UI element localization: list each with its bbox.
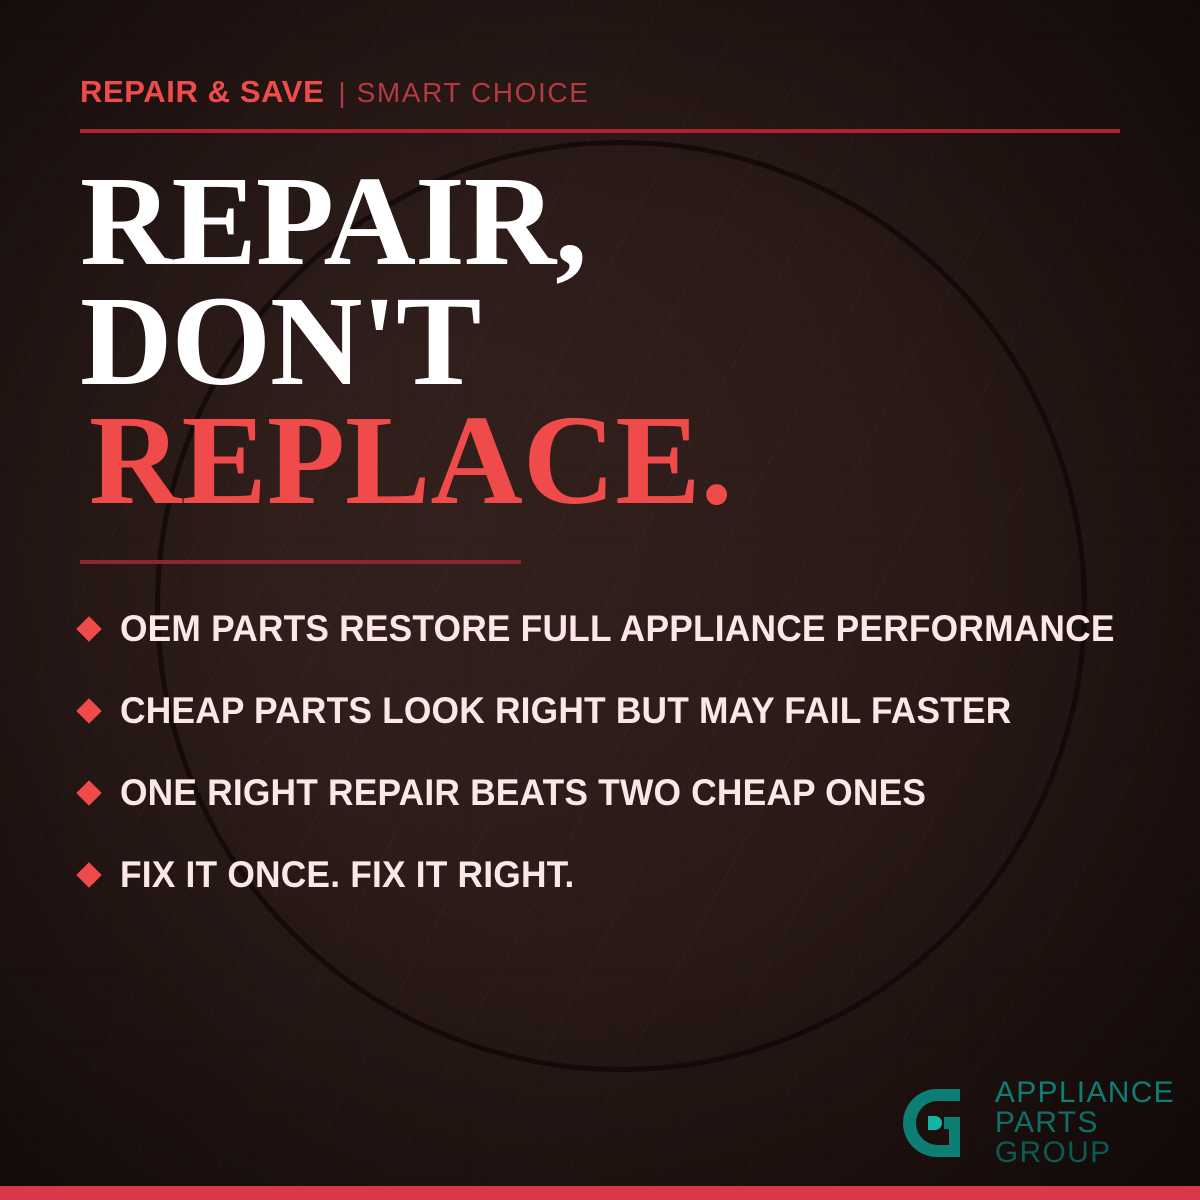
list-item: ONE RIGHT REPAIR BEATS TWO CHEAP ONES — [80, 752, 1160, 834]
headline-line-3: REPLACE. — [80, 401, 1080, 521]
poster-canvas: REPAIR & SAVE | SMART CHOICE REPAIR, DON… — [0, 0, 1200, 1200]
diamond-bullet-icon — [76, 780, 101, 805]
header-rule — [80, 129, 1120, 133]
list-item: CHEAP PARTS LOOK RIGHT BUT MAY FAIL FAST… — [80, 670, 1160, 752]
headline-divider — [80, 560, 521, 564]
logo-line-2: PARTS — [995, 1108, 1175, 1138]
bottom-accent-bar — [0, 1186, 1200, 1200]
diamond-bullet-icon — [76, 616, 101, 641]
diamond-bullet-icon — [76, 698, 101, 723]
logo-line-1: APPLIANCE — [995, 1078, 1175, 1108]
g-monogram-icon — [897, 1083, 981, 1163]
diamond-bullet-icon — [76, 862, 101, 887]
eyebrow-sub-label: | SMART CHOICE — [338, 77, 589, 109]
list-item: FIX IT ONCE. FIX IT RIGHT. — [80, 834, 1160, 916]
logo-wordmark: APPLIANCE PARTS GROUP — [995, 1078, 1175, 1168]
bullet-label: ONE RIGHT REPAIR BEATS TWO CHEAP ONES — [120, 772, 926, 814]
eyebrow: REPAIR & SAVE | SMART CHOICE — [80, 74, 589, 110]
headline: REPAIR, DON'T REPLACE. — [80, 162, 1080, 521]
eyebrow-main-label: REPAIR & SAVE — [80, 74, 324, 110]
bullet-label: OEM PARTS RESTORE FULL APPLIANCE PERFORM… — [120, 608, 1115, 650]
logo-line-3: GROUP — [995, 1138, 1175, 1168]
brand-logo: APPLIANCE PARTS GROUP — [897, 1078, 1175, 1168]
bullet-label: CHEAP PARTS LOOK RIGHT BUT MAY FAIL FAST… — [120, 690, 1011, 732]
headline-line-1: REPAIR, — [80, 162, 1080, 282]
list-item: OEM PARTS RESTORE FULL APPLIANCE PERFORM… — [80, 588, 1160, 670]
bullet-list: OEM PARTS RESTORE FULL APPLIANCE PERFORM… — [80, 588, 1160, 916]
bullet-label: FIX IT ONCE. FIX IT RIGHT. — [120, 854, 575, 896]
headline-line-2: DON'T — [80, 282, 1080, 402]
